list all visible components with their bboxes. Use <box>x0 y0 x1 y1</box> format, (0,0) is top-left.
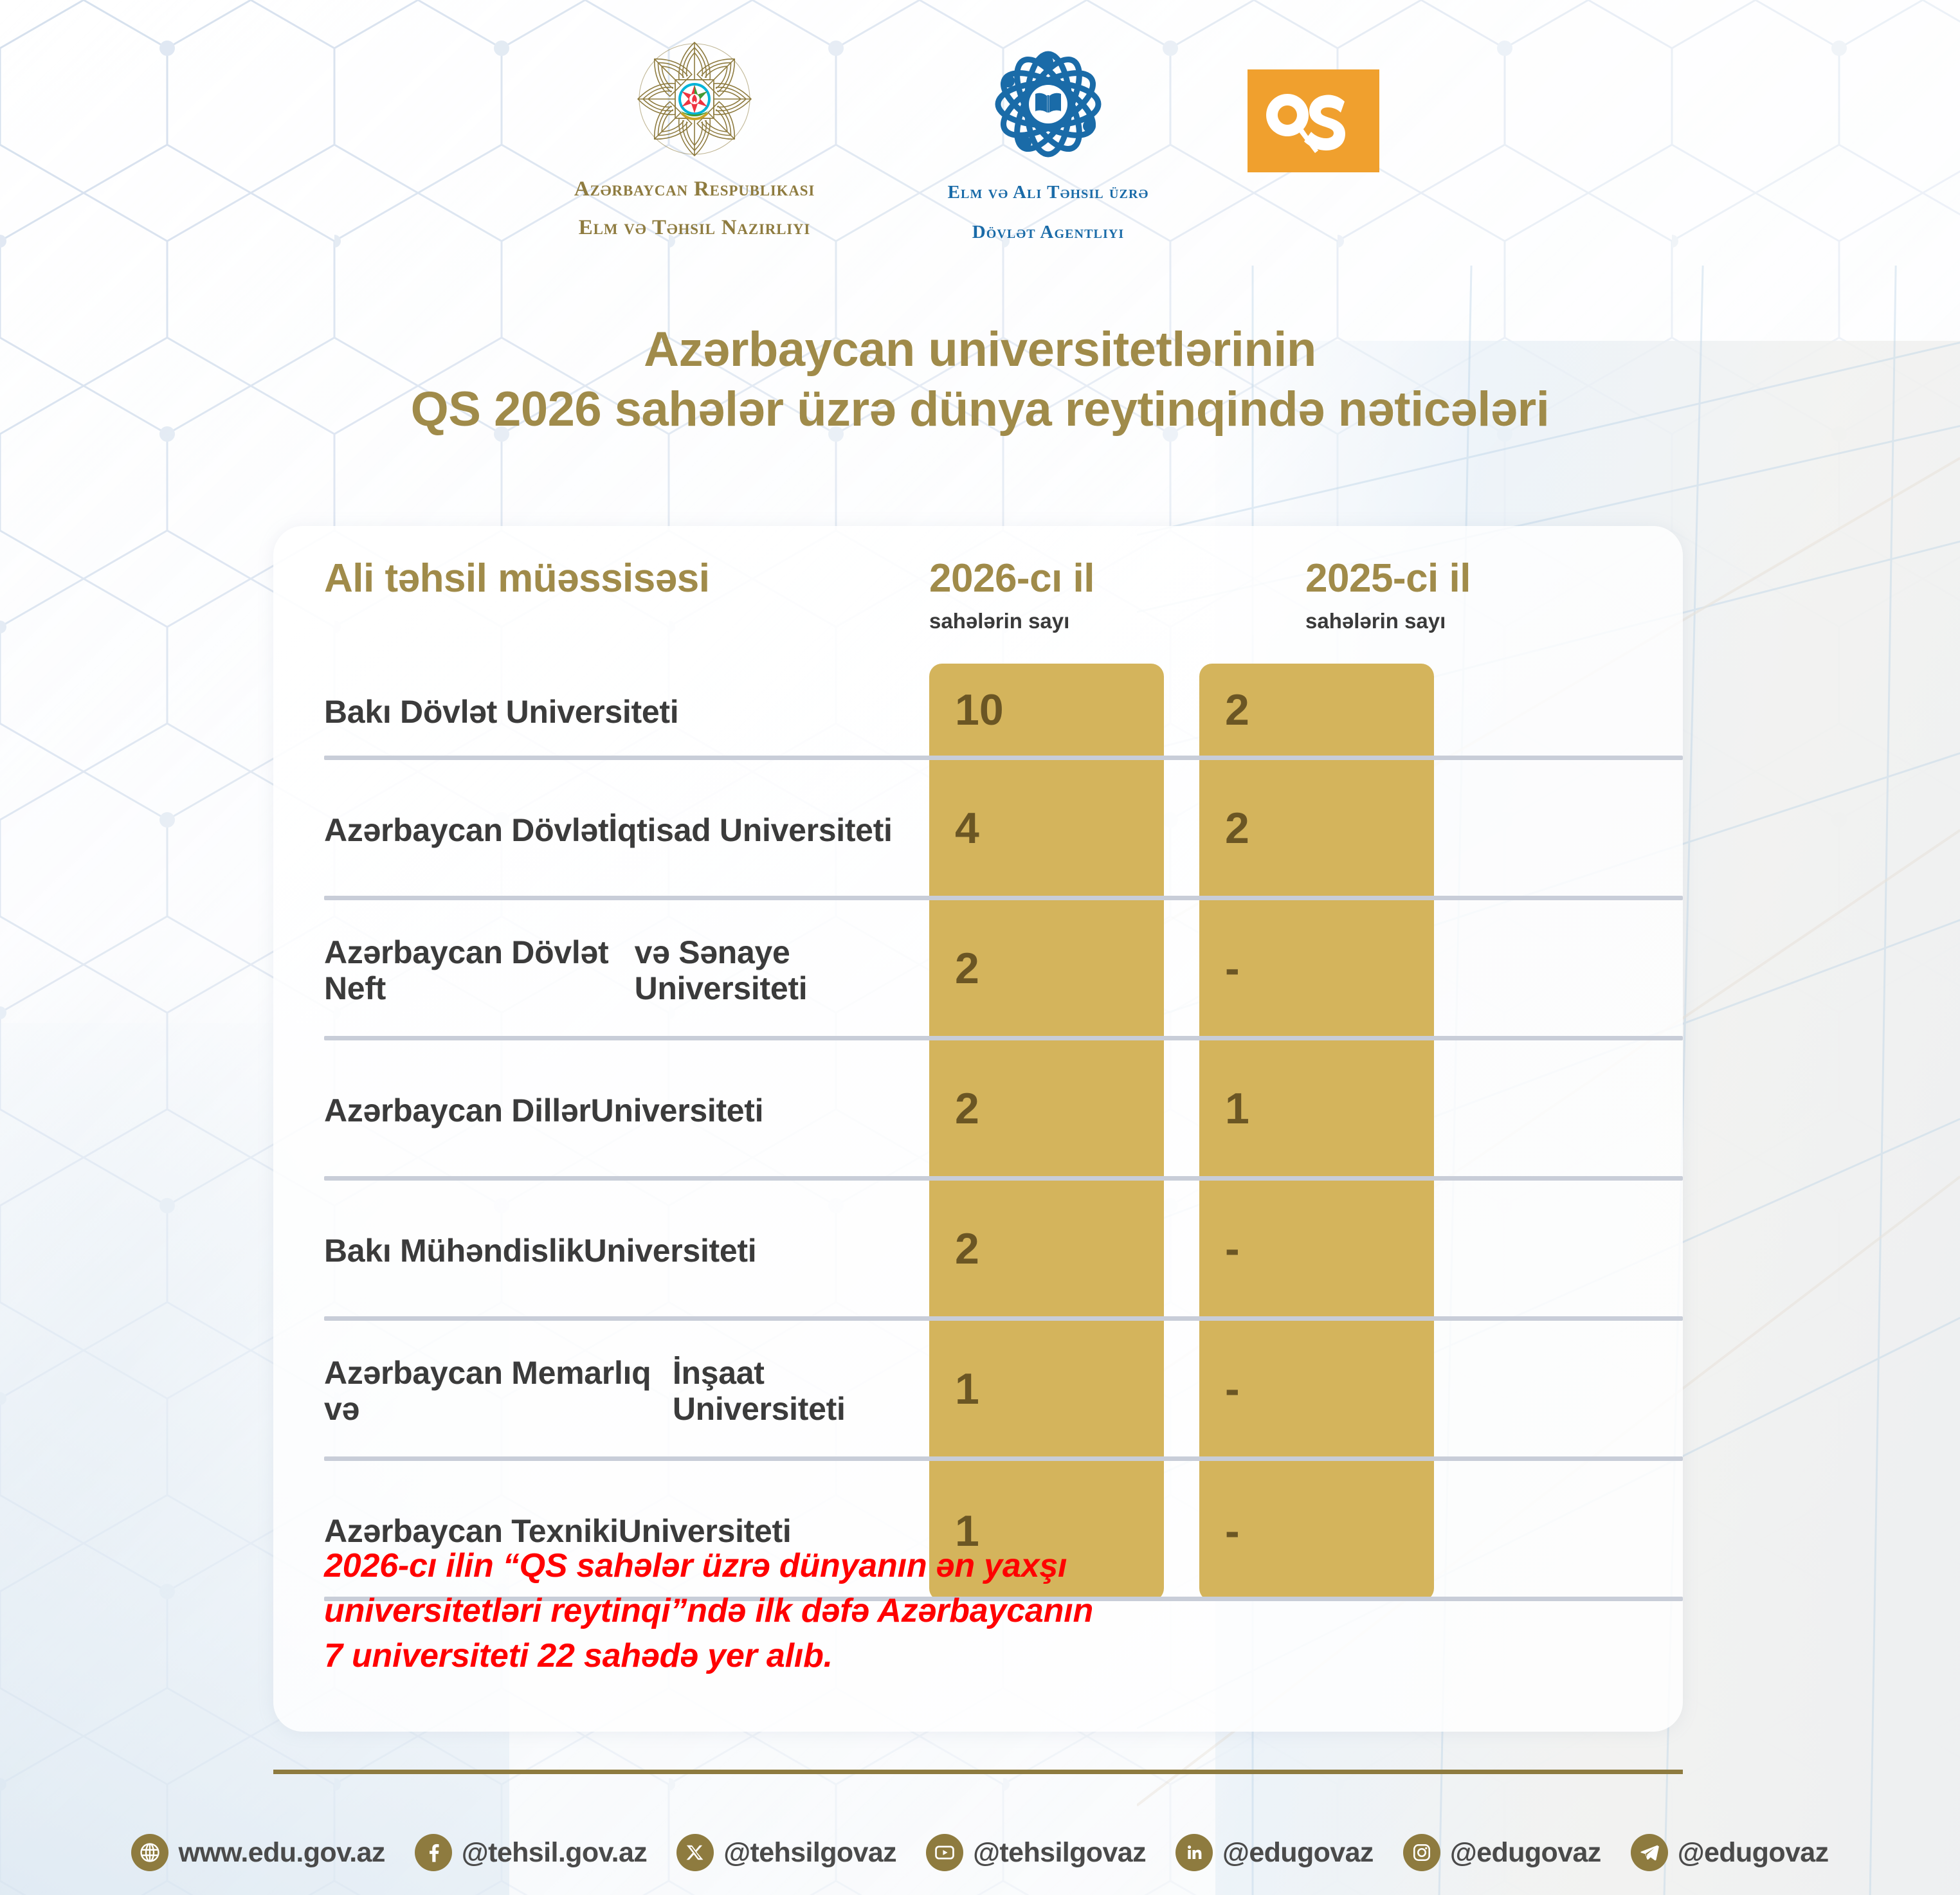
row-separator <box>324 896 1683 900</box>
column-header-2025-year: 2025-ci il <box>1305 556 1627 601</box>
column-header-2026: 2026-cı il sahələrin sayı <box>929 556 1251 633</box>
cell-value-2025: 1 <box>1199 1040 1434 1181</box>
footer-divider <box>273 1770 1683 1774</box>
agency-caption-line2: Dövlət Agentliyi <box>875 219 1222 246</box>
table-row: Azərbaycan Dövlət Neftvə Sənaye Universi… <box>273 900 1683 1040</box>
footer-social-label: @tehsil.gov.az <box>462 1837 647 1869</box>
row-separator <box>324 1176 1683 1181</box>
footer-social-item[interactable]: www.edu.gov.az <box>131 1834 385 1871</box>
cell-institution-name: Bakı Dövlət Universiteti <box>273 664 929 760</box>
cell-value-2025: 2 <box>1199 760 1434 900</box>
table-row: Azərbaycan DillərUniversiteti21 <box>273 1040 1683 1181</box>
instagram-icon[interactable] <box>1403 1834 1440 1871</box>
row-separator <box>324 756 1683 760</box>
row-separator <box>324 1316 1683 1321</box>
column-header-2025-sub: sahələrin sayı <box>1305 609 1627 633</box>
row-separator <box>324 1456 1683 1461</box>
table-row: Bakı Dövlət Universiteti102 <box>273 664 1683 760</box>
cell-value-2025: - <box>1199 900 1434 1040</box>
cell-value-2026: 10 <box>929 664 1164 760</box>
cell-institution-name: Azərbaycan Dövlət Neftvə Sənaye Universi… <box>273 900 929 1040</box>
cell-institution-name: Azərbaycan Memarlıq vəİnşaat Universitet… <box>273 1321 929 1461</box>
footer-social-label: @edugovaz <box>1222 1837 1374 1869</box>
footer-social-bar: www.edu.gov.az@tehsil.gov.az@tehsilgovaz… <box>0 1824 1960 1881</box>
agency-caption-line1: Elm və Ali Təhsil üzrə <box>875 179 1222 206</box>
footer-social-label: www.edu.gov.az <box>178 1837 385 1869</box>
footer-social-item[interactable]: @edugovaz <box>1631 1834 1829 1871</box>
ministry-caption-line2: Elm və Təhsil Nazirliyi <box>502 214 887 242</box>
globe-icon[interactable] <box>131 1834 168 1871</box>
cell-institution-name: Azərbaycan DillərUniversiteti <box>273 1040 929 1181</box>
youtube-icon[interactable] <box>926 1834 963 1871</box>
footnote-line3: 7 universiteti 22 sahədə yer alıb. <box>324 1633 1482 1678</box>
footer-social-item[interactable]: @tehsil.gov.az <box>415 1834 647 1871</box>
x-twitter-icon[interactable] <box>676 1834 714 1871</box>
footnote-line1: 2026-cı ilin “QS sahələr üzrə dünyanın ə… <box>324 1543 1482 1588</box>
ministry-caption-line1: Azərbaycan Respublikası <box>502 176 887 204</box>
ministry-emblem-icon <box>502 40 887 162</box>
table-header: Ali təhsil müəssisəsi 2026-cı il sahələr… <box>273 545 1683 667</box>
table-row: Azərbaycan Memarlıq vəİnşaat Universitet… <box>273 1321 1683 1461</box>
footer-social-item[interactable]: @edugovaz <box>1175 1834 1374 1871</box>
cell-value-2026: 1 <box>929 1321 1164 1461</box>
qs-logo-block <box>1248 69 1379 172</box>
page-title: Azərbaycan universitetlərinin QS 2026 sa… <box>0 320 1960 439</box>
page-title-line1: Azərbaycan universitetlərinin <box>0 320 1960 380</box>
table-body: Bakı Dövlət Universiteti102Azərbaycan Dö… <box>273 664 1683 1601</box>
column-header-institution: Ali təhsil müəssisəsi <box>324 556 709 601</box>
footnote-line2-normal: universitetləri reytinqi”ndə <box>324 1592 755 1629</box>
column-header-2025: 2025-ci il sahələrin sayı <box>1305 556 1627 633</box>
column-header-2026-year: 2026-cı il <box>929 556 1251 601</box>
footer-social-label: @tehsilgovaz <box>973 1837 1146 1869</box>
cell-value-2025: - <box>1199 1181 1434 1321</box>
cell-value-2026: 4 <box>929 760 1164 900</box>
footnote-line2-strong: ilk dəfə Azərbaycanın <box>755 1592 1093 1629</box>
footer-social-label: @edugovaz <box>1450 1837 1601 1869</box>
footer-social-label: @tehsilgovaz <box>723 1837 896 1869</box>
row-separator <box>324 1036 1683 1040</box>
ministry-logo-block: Azərbaycan Respublikası Elm və Təhsil Na… <box>502 40 887 242</box>
footer-social-label: @edugovaz <box>1678 1837 1829 1869</box>
cell-value-2025: - <box>1199 1321 1434 1461</box>
header-logos: Azərbaycan Respublikası Elm və Təhsil Na… <box>0 0 1960 257</box>
cell-value-2026: 2 <box>929 1040 1164 1181</box>
column-header-2026-sub: sahələrin sayı <box>929 609 1251 633</box>
footer-social-item[interactable]: @tehsilgovaz <box>926 1834 1146 1871</box>
footnote: 2026-cı ilin “QS sahələr üzrə dünyanın ə… <box>324 1543 1482 1679</box>
telegram-icon[interactable] <box>1631 1834 1668 1871</box>
linkedin-icon[interactable] <box>1175 1834 1213 1871</box>
cell-value-2026: 2 <box>929 1181 1164 1321</box>
facebook-icon[interactable] <box>415 1834 452 1871</box>
qs-logo-icon <box>1248 69 1379 172</box>
cell-value-2026: 2 <box>929 900 1164 1040</box>
page-title-line2: QS 2026 sahələr üzrə dünya reytinqində n… <box>0 380 1960 440</box>
footnote-line2: universitetləri reytinqi”ndə ilk dəfə Az… <box>324 1588 1482 1633</box>
cell-institution-name: Azərbaycan Dövlətİqtisad Universiteti <box>273 760 929 900</box>
agency-atom-icon <box>875 50 1222 163</box>
table-row: Bakı MühəndislikUniversiteti2- <box>273 1181 1683 1321</box>
footer-social-item[interactable]: @tehsilgovaz <box>676 1834 896 1871</box>
cell-institution-name: Bakı MühəndislikUniversiteti <box>273 1181 929 1321</box>
table-row: Azərbaycan Dövlətİqtisad Universiteti42 <box>273 760 1683 900</box>
cell-value-2025: 2 <box>1199 664 1434 760</box>
footer-social-item[interactable]: @edugovaz <box>1403 1834 1601 1871</box>
agency-logo-block: Elm və Ali Təhsil üzrə Dövlət Agentliyi <box>875 50 1222 246</box>
